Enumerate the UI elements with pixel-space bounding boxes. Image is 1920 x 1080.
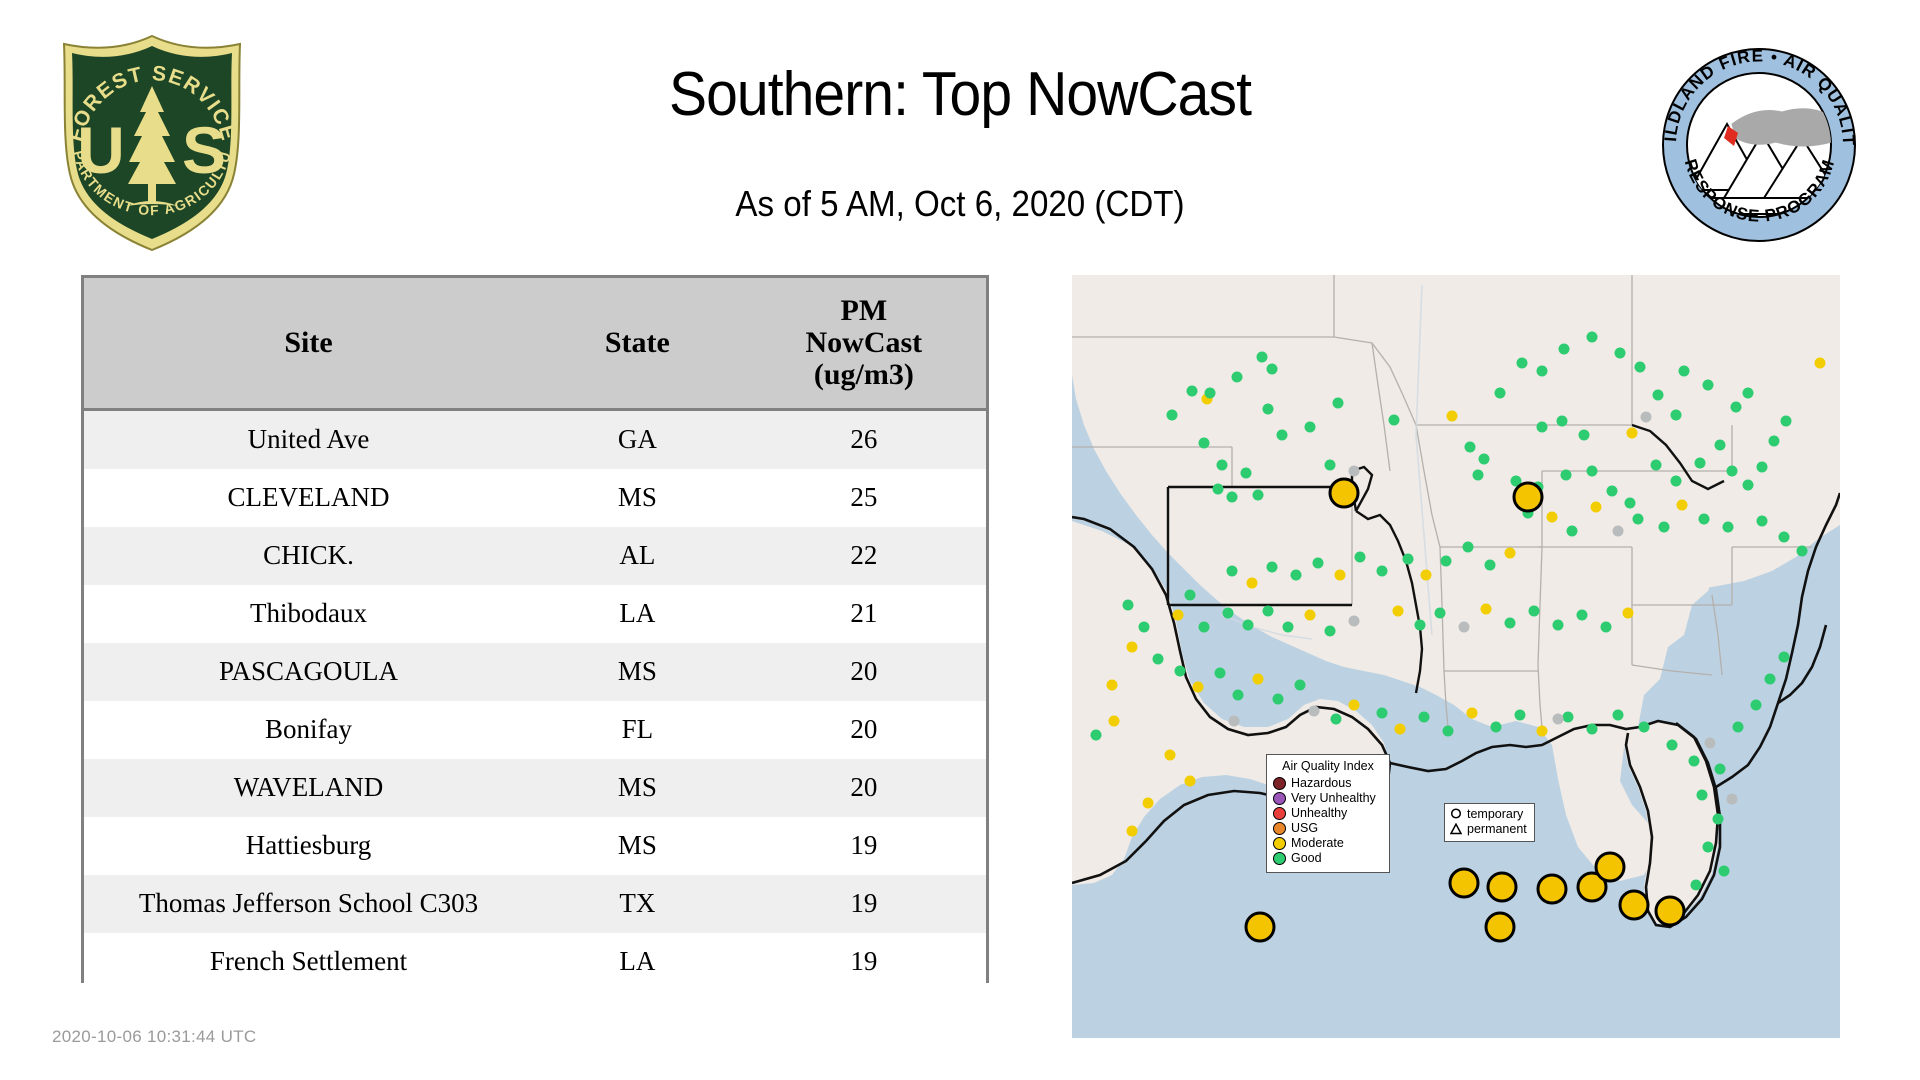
table-row: United AveGA26 xyxy=(84,410,986,470)
column-header-state: State xyxy=(533,278,742,410)
monitor-dot[interactable] xyxy=(1331,714,1342,725)
monitor-dot[interactable] xyxy=(1505,548,1516,559)
monitor-dot[interactable] xyxy=(1641,412,1652,423)
top-site-marker[interactable] xyxy=(1245,912,1276,943)
cell-site: Thomas Jefferson School C303 xyxy=(84,875,533,933)
monitor-dot[interactable] xyxy=(1505,618,1516,629)
aqi-legend-item: USG xyxy=(1273,821,1383,836)
monitor-dot[interactable] xyxy=(1463,542,1474,553)
monitor-dot[interactable] xyxy=(1601,622,1612,633)
monitor-dot[interactable] xyxy=(1797,546,1808,557)
aqi-legend-item: Good xyxy=(1273,851,1383,866)
monitor-type-legend: temporary permanent xyxy=(1444,803,1535,842)
table-row: BonifayFL20 xyxy=(84,701,986,759)
monitor-dot[interactable] xyxy=(1699,514,1710,525)
monitor-dot[interactable] xyxy=(1291,570,1302,581)
monitor-dot[interactable] xyxy=(1485,560,1496,571)
cell-pm-nowcast: 20 xyxy=(742,643,986,701)
column-header-site: Site xyxy=(84,278,533,410)
monitor-dot[interactable] xyxy=(1229,716,1240,727)
monitor-dot[interactable] xyxy=(1393,606,1404,617)
top-site-marker[interactable] xyxy=(1619,890,1650,921)
monitor-dot[interactable] xyxy=(1447,411,1458,422)
cell-pm-nowcast: 22 xyxy=(742,527,986,585)
cell-pm-nowcast: 26 xyxy=(742,410,986,470)
monitor-dot[interactable] xyxy=(1537,366,1548,377)
monitor-dot[interactable] xyxy=(1223,608,1234,619)
monitor-dot[interactable] xyxy=(1165,750,1176,761)
top-site-marker[interactable] xyxy=(1487,872,1518,903)
cell-site: Thibodaux xyxy=(84,585,533,643)
top-site-marker[interactable] xyxy=(1655,896,1686,927)
monitor-dot[interactable] xyxy=(1215,668,1226,679)
page-subtitle: As of 5 AM, Oct 6, 2020 (CDT) xyxy=(353,182,1567,226)
monitor-dot[interactable] xyxy=(1465,442,1476,453)
monitor-dot[interactable] xyxy=(1577,610,1588,621)
monitor-dot[interactable] xyxy=(1815,358,1826,369)
monitor-dot[interactable] xyxy=(1733,722,1744,733)
monitor-dot[interactable] xyxy=(1547,512,1558,523)
monitor-dot[interactable] xyxy=(1389,415,1400,426)
monitor-dot[interactable] xyxy=(1305,422,1316,433)
monitor-dot[interactable] xyxy=(1757,462,1768,473)
monitor-dot[interactable] xyxy=(1403,554,1414,565)
aqi-monitor-map[interactable] xyxy=(1072,275,1840,1038)
monitor-dot[interactable] xyxy=(1153,654,1164,665)
monitor-dot[interactable] xyxy=(1395,724,1406,735)
monitor-dot[interactable] xyxy=(1205,388,1216,399)
cell-state: AL xyxy=(533,527,742,585)
monitor-dot[interactable] xyxy=(1143,798,1154,809)
monitor-dot[interactable] xyxy=(1233,690,1244,701)
monitor-dot[interactable] xyxy=(1635,362,1646,373)
monitor-dot[interactable] xyxy=(1123,600,1134,611)
monitor-dot[interactable] xyxy=(1467,708,1478,719)
monitor-dot[interactable] xyxy=(1719,866,1730,877)
monitor-dot[interactable] xyxy=(1677,500,1688,511)
monitor-dot[interactable] xyxy=(1529,606,1540,617)
aqi-legend-title: Air Quality Index xyxy=(1273,759,1383,774)
monitor-dot[interactable] xyxy=(1743,388,1754,399)
monitor-dot[interactable] xyxy=(1253,490,1264,501)
monitor-dot[interactable] xyxy=(1227,492,1238,503)
monitor-dot[interactable] xyxy=(1109,716,1120,727)
top-site-marker[interactable] xyxy=(1595,852,1626,883)
monitor-dot[interactable] xyxy=(1232,372,1243,383)
monitor-dot[interactable] xyxy=(1587,466,1598,477)
monitor-dot[interactable] xyxy=(1377,708,1388,719)
column-header-pm-nowcast: PM NowCast (ug/m3) xyxy=(742,278,986,410)
cell-site: French Settlement xyxy=(84,933,533,991)
monitor-dot[interactable] xyxy=(1705,738,1716,749)
monitor-dot[interactable] xyxy=(1779,652,1790,663)
monitor-dot[interactable] xyxy=(1495,388,1506,399)
monitor-dot[interactable] xyxy=(1561,470,1572,481)
aqi-legend-label: Hazardous xyxy=(1291,776,1351,791)
monitor-dot[interactable] xyxy=(1263,606,1274,617)
top-site-marker[interactable] xyxy=(1537,874,1568,905)
table-header: Site State PM NowCast (ug/m3) xyxy=(84,278,986,410)
monitor-dot[interactable] xyxy=(1769,436,1780,447)
wfaqrp-logo-svg: WILDLAND FIRE • AIR QUALITY RESPONSE PRO… xyxy=(1652,38,1867,253)
legend-label-temporary: temporary xyxy=(1467,807,1523,822)
nowcast-table-element: Site State PM NowCast (ug/m3) United Ave… xyxy=(84,278,986,991)
cell-state: GA xyxy=(533,410,742,470)
monitor-dot[interactable] xyxy=(1703,842,1714,853)
monitor-dot[interactable] xyxy=(1567,526,1578,537)
monitor-dot[interactable] xyxy=(1273,694,1284,705)
pm-line-1: PM xyxy=(744,295,984,327)
cell-pm-nowcast: 25 xyxy=(742,469,986,527)
monitor-dot[interactable] xyxy=(1639,722,1650,733)
aqi-color-swatch xyxy=(1273,807,1286,820)
monitor-dot[interactable] xyxy=(1517,358,1528,369)
table-row: PASCAGOULAMS20 xyxy=(84,643,986,701)
monitor-dot[interactable] xyxy=(1491,722,1502,733)
top-site-marker[interactable] xyxy=(1513,482,1544,513)
monitor-dot[interactable] xyxy=(1659,522,1670,533)
monitor-dot[interactable] xyxy=(1559,344,1570,355)
cell-site: Bonifay xyxy=(84,701,533,759)
aqi-legend-item: Unhealthy xyxy=(1273,806,1383,821)
cell-site: WAVELAND xyxy=(84,759,533,817)
aqi-legend-label: USG xyxy=(1291,821,1318,836)
monitor-dot[interactable] xyxy=(1441,556,1452,567)
cell-site: CHICK. xyxy=(84,527,533,585)
table-row: CLEVELANDMS25 xyxy=(84,469,986,527)
monitor-dot[interactable] xyxy=(1325,460,1336,471)
monitor-dot[interactable] xyxy=(1241,468,1252,479)
monitor-dot[interactable] xyxy=(1671,476,1682,487)
monitor-dot[interactable] xyxy=(1227,566,1238,577)
monitor-dot[interactable] xyxy=(1127,826,1138,837)
monitor-dot[interactable] xyxy=(1627,428,1638,439)
top-nowcast-table: Site State PM NowCast (ug/m3) United Ave… xyxy=(81,275,989,983)
cell-pm-nowcast: 20 xyxy=(742,759,986,817)
monitor-dot[interactable] xyxy=(1479,454,1490,465)
monitor-dot[interactable] xyxy=(1175,666,1186,677)
top-site-marker[interactable] xyxy=(1485,912,1516,943)
monitor-dot[interactable] xyxy=(1481,604,1492,615)
aqi-legend-label: Moderate xyxy=(1291,836,1344,851)
monitor-dot[interactable] xyxy=(1703,380,1714,391)
cell-state: MS xyxy=(533,643,742,701)
monitor-dot[interactable] xyxy=(1217,460,1228,471)
pm-line-2: NowCast xyxy=(744,327,984,359)
monitor-dot[interactable] xyxy=(1355,552,1366,563)
monitor-dot[interactable] xyxy=(1743,480,1754,491)
cell-pm-nowcast: 19 xyxy=(742,875,986,933)
monitor-dot[interactable] xyxy=(1779,532,1790,543)
monitor-dot[interactable] xyxy=(1267,562,1278,573)
cell-site: United Ave xyxy=(84,410,533,470)
table-header-row: Site State PM NowCast (ug/m3) xyxy=(84,278,986,410)
cell-state: MS xyxy=(533,759,742,817)
monitor-dot[interactable] xyxy=(1313,558,1324,569)
aqi-color-swatch xyxy=(1273,852,1286,865)
cell-site: PASCAGOULA xyxy=(84,643,533,701)
aqi-legend-item: Moderate xyxy=(1273,836,1383,851)
table-row: ThibodauxLA21 xyxy=(84,585,986,643)
monitor-dot[interactable] xyxy=(1377,566,1388,577)
monitor-dot[interactable] xyxy=(1333,398,1344,409)
monitor-dot[interactable] xyxy=(1751,700,1762,711)
monitor-dot[interactable] xyxy=(1757,516,1768,527)
monitor-dot[interactable] xyxy=(1309,706,1320,717)
monitor-dot[interactable] xyxy=(1727,794,1738,805)
monitor-dot[interactable] xyxy=(1689,756,1700,767)
top-site-marker[interactable] xyxy=(1329,478,1360,509)
monitor-dot[interactable] xyxy=(1349,700,1360,711)
svg-text:U: U xyxy=(77,113,125,187)
monitor-dot[interactable] xyxy=(1633,514,1644,525)
page-title: Southern: Top NowCast xyxy=(353,56,1567,134)
cell-state: TX xyxy=(533,875,742,933)
monitor-dot[interactable] xyxy=(1349,466,1360,477)
monitor-dot[interactable] xyxy=(1253,674,1264,685)
monitor-dot[interactable] xyxy=(1107,680,1118,691)
table-row: WAVELANDMS20 xyxy=(84,759,986,817)
table-row: French SettlementLA19 xyxy=(84,933,986,991)
monitor-dot[interactable] xyxy=(1193,682,1204,693)
cell-pm-nowcast: 19 xyxy=(742,933,986,991)
monitor-dot[interactable] xyxy=(1263,404,1274,415)
monitor-dot[interactable] xyxy=(1415,620,1426,631)
render-timestamp: 2020-10-06 10:31:44 UTC xyxy=(52,1027,256,1047)
monitor-dot[interactable] xyxy=(1615,348,1626,359)
aqi-color-swatch xyxy=(1273,777,1286,790)
aqi-color-swatch xyxy=(1273,837,1286,850)
monitor-dot[interactable] xyxy=(1607,486,1618,497)
permanent-triangle-icon xyxy=(1450,823,1462,836)
monitor-dot[interactable] xyxy=(1731,402,1742,413)
cell-site: Hattiesburg xyxy=(84,817,533,875)
svg-text:S: S xyxy=(182,113,226,187)
monitor-dot[interactable] xyxy=(1283,622,1294,633)
monitor-dot[interactable] xyxy=(1277,430,1288,441)
monitor-dot[interactable] xyxy=(1653,390,1664,401)
monitor-dot[interactable] xyxy=(1695,458,1706,469)
cell-site: CLEVELAND xyxy=(84,469,533,527)
temporary-circle-icon xyxy=(1450,808,1462,821)
monitor-dot[interactable] xyxy=(1667,740,1678,751)
monitor-dot[interactable] xyxy=(1587,724,1598,735)
monitor-dot[interactable] xyxy=(1691,880,1702,891)
table-row: HattiesburgMS19 xyxy=(84,817,986,875)
monitor-dot[interactable] xyxy=(1579,430,1590,441)
cell-pm-nowcast: 20 xyxy=(742,701,986,759)
monitor-dot[interactable] xyxy=(1613,526,1624,537)
monitor-dot[interactable] xyxy=(1199,438,1210,449)
monitor-dot[interactable] xyxy=(1247,578,1258,589)
monitor-dot[interactable] xyxy=(1671,410,1682,421)
monitor-dot[interactable] xyxy=(1537,726,1548,737)
cell-state: FL xyxy=(533,701,742,759)
table-body: United AveGA26CLEVELANDMS25CHICK.AL22Thi… xyxy=(84,410,986,992)
aqi-legend-item: Hazardous xyxy=(1273,776,1383,791)
monitor-dot[interactable] xyxy=(1697,790,1708,801)
monitor-dot[interactable] xyxy=(1713,814,1724,825)
monitor-dot[interactable] xyxy=(1335,570,1346,581)
monitor-dot[interactable] xyxy=(1563,712,1574,723)
monitor-dot[interactable] xyxy=(1185,776,1196,787)
aqi-legend-label: Very Unhealthy xyxy=(1291,791,1376,806)
table-row: Thomas Jefferson School C303TX19 xyxy=(84,875,986,933)
monitor-dot[interactable] xyxy=(1623,608,1634,619)
monitor-dot[interactable] xyxy=(1127,642,1138,653)
monitor-dot[interactable] xyxy=(1139,622,1150,633)
monitor-dot[interactable] xyxy=(1557,416,1568,427)
aqi-legend-label: Unhealthy xyxy=(1291,806,1347,821)
monitor-dot[interactable] xyxy=(1421,570,1432,581)
monitor-dot[interactable] xyxy=(1715,764,1726,775)
monitor-dot[interactable] xyxy=(1553,620,1564,631)
monitor-dot[interactable] xyxy=(1679,366,1690,377)
monitor-dot[interactable] xyxy=(1295,680,1306,691)
monitor-dot[interactable] xyxy=(1723,522,1734,533)
cell-state: MS xyxy=(533,817,742,875)
monitor-dot[interactable] xyxy=(1305,610,1316,621)
monitor-dot[interactable] xyxy=(1257,352,1268,363)
monitor-dot[interactable] xyxy=(1727,466,1738,477)
monitor-dot[interactable] xyxy=(1199,622,1210,633)
cell-pm-nowcast: 21 xyxy=(742,585,986,643)
cell-state: LA xyxy=(533,933,742,991)
monitor-dot[interactable] xyxy=(1515,710,1526,721)
monitor-dot[interactable] xyxy=(1213,484,1224,495)
legend-label-permanent: permanent xyxy=(1467,822,1527,837)
monitor-dot[interactable] xyxy=(1419,712,1430,723)
aqi-legend-item: Very Unhealthy xyxy=(1273,791,1383,806)
monitor-dot[interactable] xyxy=(1267,364,1278,375)
monitor-dot[interactable] xyxy=(1765,674,1776,685)
aqi-color-swatch xyxy=(1273,792,1286,805)
wfaqrp-circular-logo: WILDLAND FIRE • AIR QUALITY RESPONSE PRO… xyxy=(1652,38,1867,253)
monitor-dot[interactable] xyxy=(1625,498,1636,509)
monitor-dot[interactable] xyxy=(1185,590,1196,601)
aqi-color-swatch xyxy=(1273,822,1286,835)
usfs-shield-svg: FOREST SERVICE DEPARTMENT OF AGRICULTURE… xyxy=(52,28,252,256)
monitor-dot[interactable] xyxy=(1325,626,1336,637)
legend-row-temporary: temporary xyxy=(1450,807,1527,822)
monitor-dot[interactable] xyxy=(1591,502,1602,513)
monitor-dot[interactable] xyxy=(1473,470,1484,481)
monitor-dot[interactable] xyxy=(1537,422,1548,433)
monitor-dot[interactable] xyxy=(1187,386,1198,397)
monitor-dot[interactable] xyxy=(1613,710,1624,721)
monitor-dot[interactable] xyxy=(1459,622,1470,633)
monitor-dot[interactable] xyxy=(1167,410,1178,421)
monitor-dot[interactable] xyxy=(1587,332,1598,343)
usfs-shield-logo: FOREST SERVICE DEPARTMENT OF AGRICULTURE… xyxy=(52,28,252,256)
top-site-marker[interactable] xyxy=(1449,868,1480,899)
aqi-legend: Air Quality Index HazardousVery Unhealth… xyxy=(1266,754,1390,873)
cell-state: LA xyxy=(533,585,742,643)
monitor-dot[interactable] xyxy=(1443,726,1454,737)
legend-row-permanent: permanent xyxy=(1450,822,1527,837)
monitor-dot[interactable] xyxy=(1435,608,1446,619)
monitor-dot[interactable] xyxy=(1715,440,1726,451)
monitor-dot[interactable] xyxy=(1349,616,1360,627)
monitor-dot[interactable] xyxy=(1781,416,1792,427)
monitor-dot[interactable] xyxy=(1173,610,1184,621)
aqi-legend-rows: HazardousVery UnhealthyUnhealthyUSGModer… xyxy=(1273,776,1383,866)
cell-state: MS xyxy=(533,469,742,527)
cell-pm-nowcast: 19 xyxy=(742,817,986,875)
aqi-legend-label: Good xyxy=(1291,851,1322,866)
pm-line-3: (ug/m3) xyxy=(744,359,984,391)
monitor-dot[interactable] xyxy=(1091,730,1102,741)
monitor-dot[interactable] xyxy=(1651,460,1662,471)
table-row: CHICK.AL22 xyxy=(84,527,986,585)
monitor-dot[interactable] xyxy=(1553,714,1564,725)
monitor-dot[interactable] xyxy=(1243,620,1254,631)
